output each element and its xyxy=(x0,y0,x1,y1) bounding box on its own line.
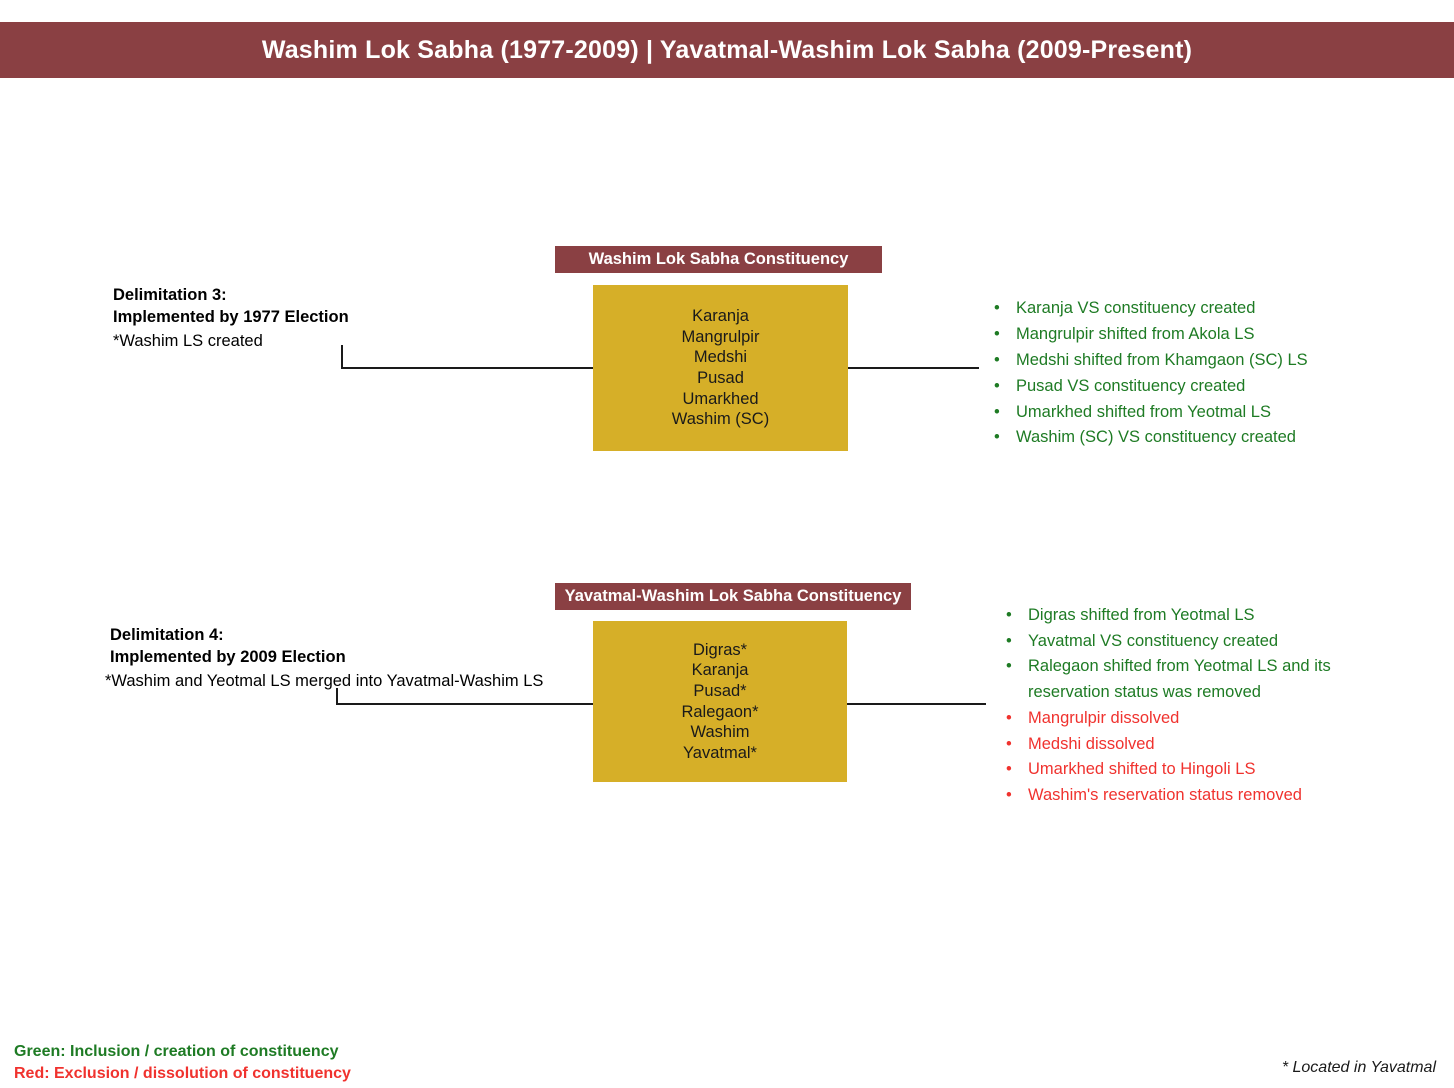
constituency-item: Umarkhed xyxy=(682,389,758,410)
connector-left-horizontal-2 xyxy=(336,703,593,705)
constituency-item: Pusad xyxy=(697,368,744,389)
change-item: Umarkhed shifted to Hingoli LS xyxy=(1000,757,1400,783)
yavatmal-washim-ls-header-label: Yavatmal-Washim Lok Sabha Constituency xyxy=(565,587,902,606)
yavatmal-washim-constituency-box: Digras* Karanja Pusad* Ralegaon* Washim … xyxy=(593,621,847,782)
connector-right-horizontal-2 xyxy=(847,703,986,705)
constituency-item: Yavatmal* xyxy=(683,743,757,764)
constituency-item: Ralegaon* xyxy=(681,702,758,723)
delimitation-3-note: *Washim LS created xyxy=(113,331,349,353)
legend-green: Green: Inclusion / creation of constitue… xyxy=(14,1041,351,1063)
delimitation-4-note: *Washim and Yeotmal LS merged into Yavat… xyxy=(105,671,543,693)
washim-ls-header-label: Washim Lok Sabha Constituency xyxy=(589,250,849,269)
legend-red: Red: Exclusion / dissolution of constitu… xyxy=(14,1063,351,1085)
constituency-item: Washim xyxy=(691,722,750,743)
washim-ls-header: Washim Lok Sabha Constituency xyxy=(555,246,882,273)
delimitation-4-implemented: Implemented by 2009 Election xyxy=(110,647,543,669)
color-legend: Green: Inclusion / creation of constitue… xyxy=(14,1041,351,1084)
delimitation-3-caption: Delimitation 3: Implemented by 1977 Elec… xyxy=(113,285,349,352)
change-item: Mangrulpir shifted from Akola LS xyxy=(988,322,1388,348)
change-item: Washim's reservation status removed xyxy=(1000,783,1400,809)
change-item: Medshi shifted from Khamgaon (SC) LS xyxy=(988,348,1388,374)
constituency-item: Digras* xyxy=(693,640,747,661)
yavatmal-washim-ls-header: Yavatmal-Washim Lok Sabha Constituency xyxy=(555,583,911,610)
constituency-item: Washim (SC) xyxy=(672,409,769,430)
delimitation-3-changes-list: Karanja VS constituency created Mangrulp… xyxy=(988,296,1388,451)
change-item: Yavatmal VS constituency created xyxy=(1000,629,1400,655)
constituency-item: Medshi xyxy=(694,347,747,368)
constituency-item: Pusad* xyxy=(693,681,746,702)
constituency-item: Karanja xyxy=(692,306,749,327)
change-item: Karanja VS constituency created xyxy=(988,296,1388,322)
page-title: Washim Lok Sabha (1977-2009) | Yavatmal-… xyxy=(262,36,1192,65)
change-item: Umarkhed shifted from Yeotmal LS xyxy=(988,400,1388,426)
delimitation-4-label: Delimitation 4: xyxy=(110,625,543,647)
constituency-item: Mangrulpir xyxy=(682,327,760,348)
connector-left-vertical-2 xyxy=(336,688,338,703)
constituency-item: Karanja xyxy=(692,660,749,681)
change-item: Mangrulpir dissolved xyxy=(1000,706,1400,732)
diagram-canvas: Washim Lok Sabha (1977-2009) | Yavatmal-… xyxy=(0,0,1454,1088)
change-item: Washim (SC) VS constituency created xyxy=(988,425,1388,451)
change-item: Ralegaon shifted from Yeotmal LS and its… xyxy=(1000,654,1400,705)
delimitation-4-changes-list: Digras shifted from Yeotmal LS Yavatmal … xyxy=(1000,603,1400,809)
change-item: Medshi dissolved xyxy=(1000,732,1400,758)
title-bar: Washim Lok Sabha (1977-2009) | Yavatmal-… xyxy=(0,22,1454,78)
connector-left-horizontal-1 xyxy=(341,367,593,369)
washim-constituency-box: Karanja Mangrulpir Medshi Pusad Umarkhed… xyxy=(593,285,848,451)
asterisk-footnote: * Located in Yavatmal xyxy=(1282,1059,1436,1077)
change-item: Digras shifted from Yeotmal LS xyxy=(1000,603,1400,629)
connector-right-horizontal-1 xyxy=(848,367,979,369)
connector-left-vertical-1 xyxy=(341,345,343,367)
delimitation-3-label: Delimitation 3: xyxy=(113,285,349,307)
change-item: Pusad VS constituency created xyxy=(988,374,1388,400)
delimitation-3-implemented: Implemented by 1977 Election xyxy=(113,307,349,329)
delimitation-4-caption: Delimitation 4: Implemented by 2009 Elec… xyxy=(110,625,543,692)
